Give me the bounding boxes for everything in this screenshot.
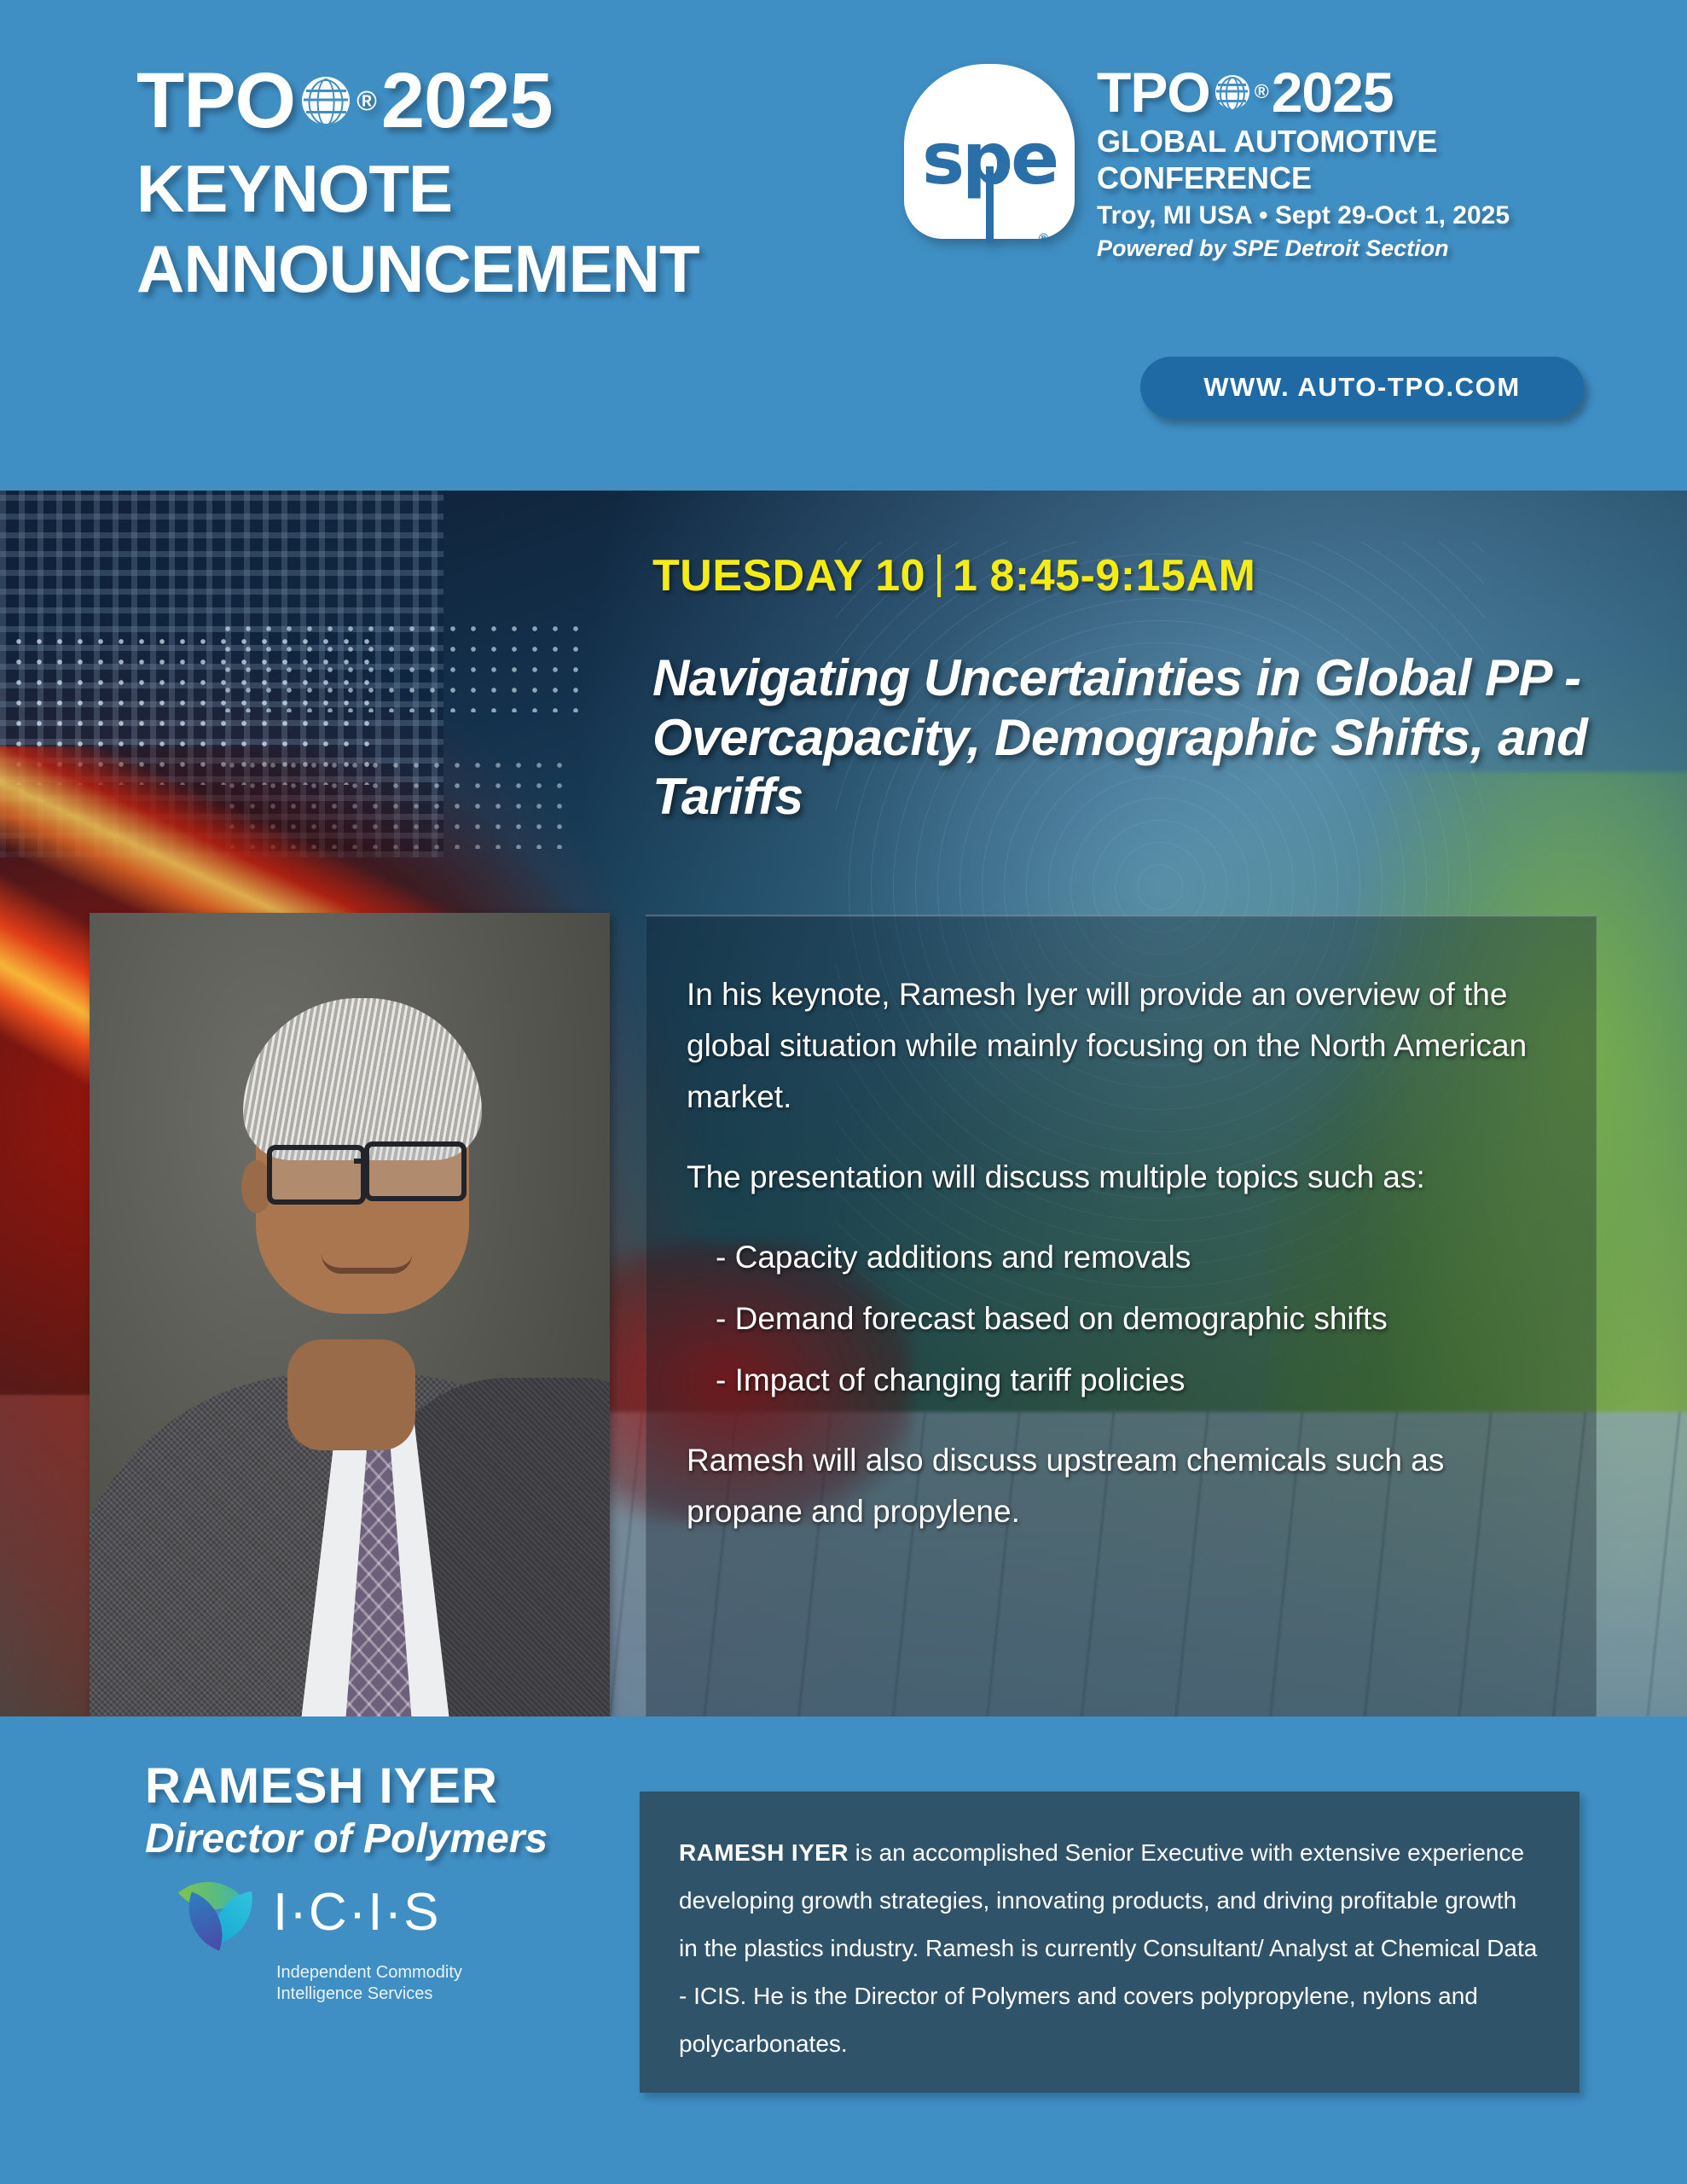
spe-registered-icon: ® [1039, 231, 1048, 246]
header-title-line-2: KEYNOTE [136, 155, 836, 222]
header-title-year: 2025 [381, 61, 553, 140]
speaker-bio-panel: RAMESH IYER is an accomplished Senior Ex… [640, 1792, 1580, 2093]
brand-year: 2025 [1272, 64, 1394, 120]
brand-line-3: CONFERENCE [1097, 162, 1510, 194]
brand-tpo-word: TPO [1097, 64, 1210, 120]
description-bullet: - Impact of changing tariff policies [687, 1355, 1565, 1406]
description-bullet: - Demand forecast based on demographic s… [687, 1293, 1565, 1345]
globe-icon [302, 77, 350, 125]
brand-line-2: GLOBAL AUTOMOTIVE [1097, 125, 1510, 157]
brand-location: Troy, MI USA • Sept 29-Oct 1, 2025 [1097, 201, 1510, 230]
header-title-line-1: TPO® 2025 [136, 61, 836, 140]
website-url-button[interactable]: WWW. AUTO-TPO.COM [1140, 357, 1584, 418]
description-panel: In his keynote, Ramesh Iyer will provide… [646, 915, 1597, 1718]
icis-tagline-line-2: Intelligence Services [276, 1984, 462, 2005]
header-band: TPO® 2025 KEYNOTE ANNOUNCEMENT spe ® TPO… [0, 0, 1687, 491]
description-bullet-list: - Capacity additions and removals - Dema… [687, 1232, 1565, 1406]
session-date-number: 1 [953, 550, 977, 601]
session-day: TUESDAY 10 [652, 550, 925, 601]
keynote-announcement-flyer: TPO® 2025 KEYNOTE ANNOUNCEMENT spe ® TPO… [0, 0, 1687, 2184]
icis-tagline-line-1: Independent Commodity [276, 1962, 462, 1984]
dot-grid-2 [217, 619, 584, 712]
conference-brand-block: spe ® TPO® 2025 GLOBAL AUTOMOTIVE CONFER… [904, 64, 1510, 262]
icis-pinwheel-icon [181, 1873, 259, 1951]
description-paragraph-2: The presentation will discuss multiple t… [687, 1152, 1565, 1203]
spe-logo-icon: spe ® [904, 64, 1075, 247]
bio-body: is an accomplished Senior Executive with… [679, 1839, 1537, 2057]
registered-icon: ® [357, 87, 376, 114]
speaker-role: Director of Polymers [145, 1815, 548, 1862]
icis-logo: I·C·I·S [181, 1873, 441, 1951]
tpo-word: TPO [136, 61, 295, 140]
session-time: 8:45-9:15AM [989, 550, 1255, 601]
brand-registered-icon: ® [1255, 82, 1268, 102]
speaker-name: RAMESH IYER [145, 1757, 498, 1815]
website-url-label: WWW. AUTO-TPO.COM [1203, 372, 1521, 403]
globe-icon-small [1215, 75, 1249, 109]
description-paragraph-3: Ramesh will also discuss upstream chemic… [687, 1435, 1565, 1537]
icis-tagline: Independent Commodity Intelligence Servi… [276, 1962, 462, 2005]
brand-tpo-line: TPO® 2025 [1097, 64, 1510, 120]
speaker-photo [90, 913, 610, 1716]
description-bullet: - Capacity additions and removals [687, 1232, 1565, 1283]
talk-title: Navigating Uncertainties in Global PP - … [652, 648, 1625, 827]
bio-lead-name: RAMESH IYER [679, 1839, 849, 1866]
description-paragraph-1: In his keynote, Ramesh Iyer will provide… [687, 969, 1565, 1123]
header-title-line-3: ANNOUNCEMENT [136, 235, 836, 302]
icis-wordmark: I·C·I·S [273, 1882, 441, 1943]
time-divider-icon [937, 555, 941, 597]
speaker-bio-text: RAMESH IYER is an accomplished Senior Ex… [679, 1829, 1540, 2068]
session-time-line: TUESDAY 10 1 8:45-9:15AM [652, 550, 1255, 601]
header-title-block: TPO® 2025 KEYNOTE ANNOUNCEMENT [136, 61, 836, 302]
brand-powered-by: Powered by SPE Detroit Section [1097, 235, 1510, 262]
